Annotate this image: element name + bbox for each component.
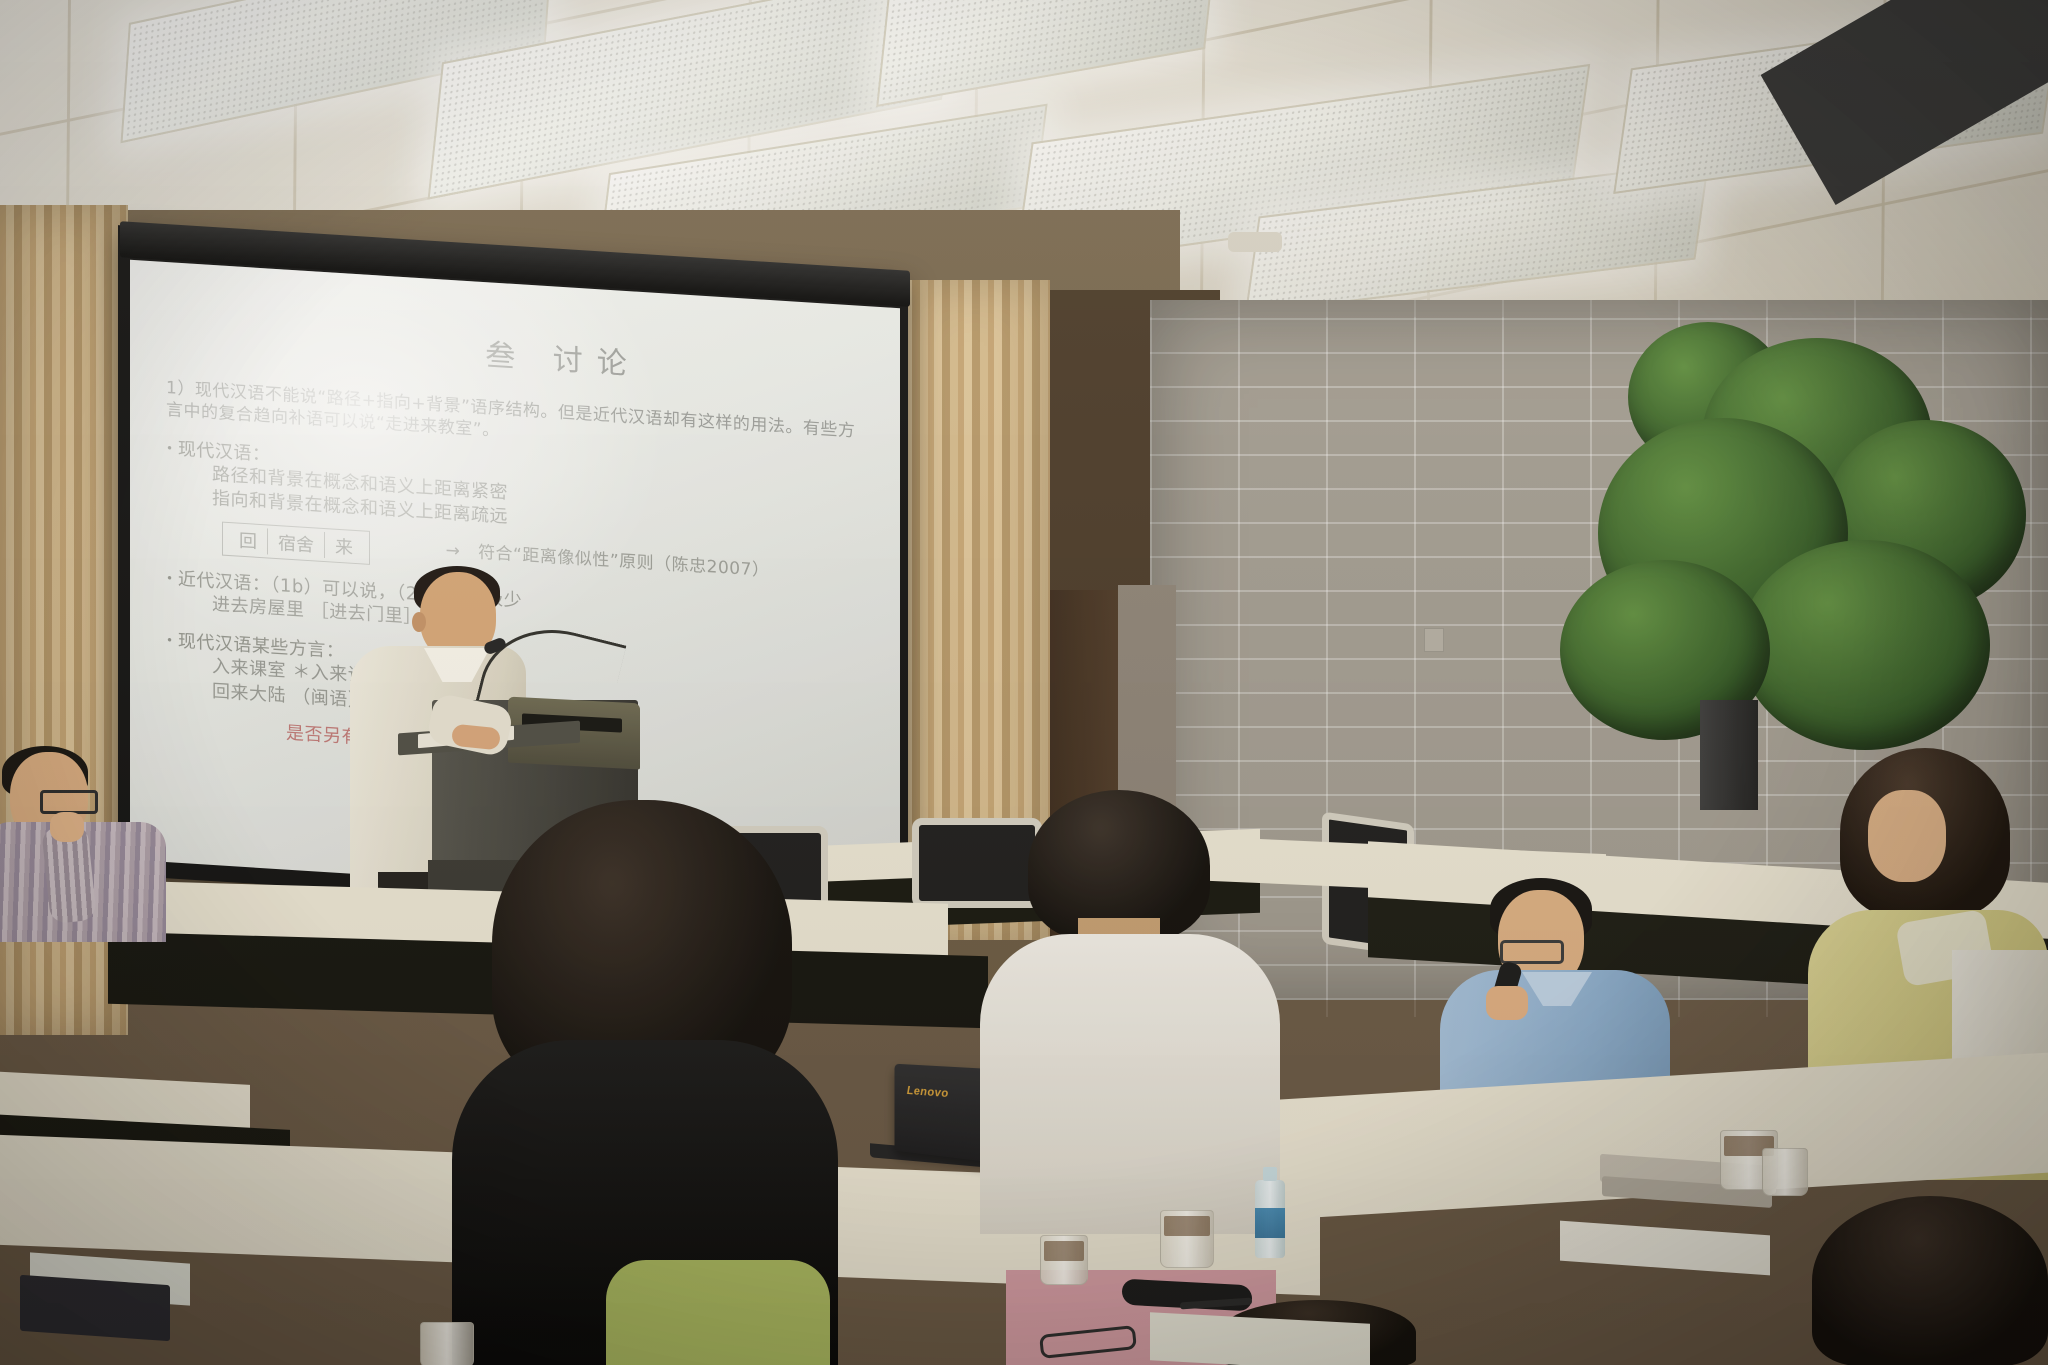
water-bottle [1255,1180,1285,1258]
attendee-body [980,934,1280,1234]
arrow-icon: → [446,541,461,562]
presenter-ear [412,612,426,632]
power-outlet-icon [1424,628,1444,652]
slide-annotation: 符合“距离像似性”原则（陈忠2007） [478,543,769,581]
paper-stack [1560,1221,1770,1276]
tea-cup [420,1322,474,1365]
tea-cup [1040,1235,1088,1285]
slide-structure-box: 回宿舍来 [222,522,370,565]
lenovo-logo: Lenovo [907,1083,949,1100]
slide-arrow-annotation: → 符合“距离像似性”原则（陈忠2007） [446,536,770,581]
conference-chair[interactable] [912,818,1042,908]
eyeglasses-icon [1500,940,1564,964]
slide-title: 叁 讨论 [256,316,870,399]
attendee-face [1868,790,1946,882]
attendee-back-of-head [1812,1196,2048,1365]
speaker-hand [1486,986,1528,1020]
plant-foliage [1740,540,1990,750]
drinking-glass [1762,1148,1808,1196]
chair-backrest[interactable] [606,1260,830,1365]
tea-cup [1160,1210,1214,1268]
conference-room-photo: 叁 讨论 1）现代汉语不能说“路径+指向+背景”语序结构。但是近代汉语却有这样的… [0,0,2048,1365]
box-cell: 来 [325,532,363,560]
box-cell: 回 [229,526,268,554]
bottle-label [1255,1208,1285,1238]
plant-pot [1700,700,1758,810]
beverage [1164,1216,1210,1236]
notebook [20,1275,170,1341]
box-cell: 宿舍 [268,529,325,559]
attendee-hand [50,812,84,842]
eyeglasses-icon [40,790,98,814]
beverage [1044,1241,1084,1261]
ceiling-speaker-icon [1228,232,1282,252]
